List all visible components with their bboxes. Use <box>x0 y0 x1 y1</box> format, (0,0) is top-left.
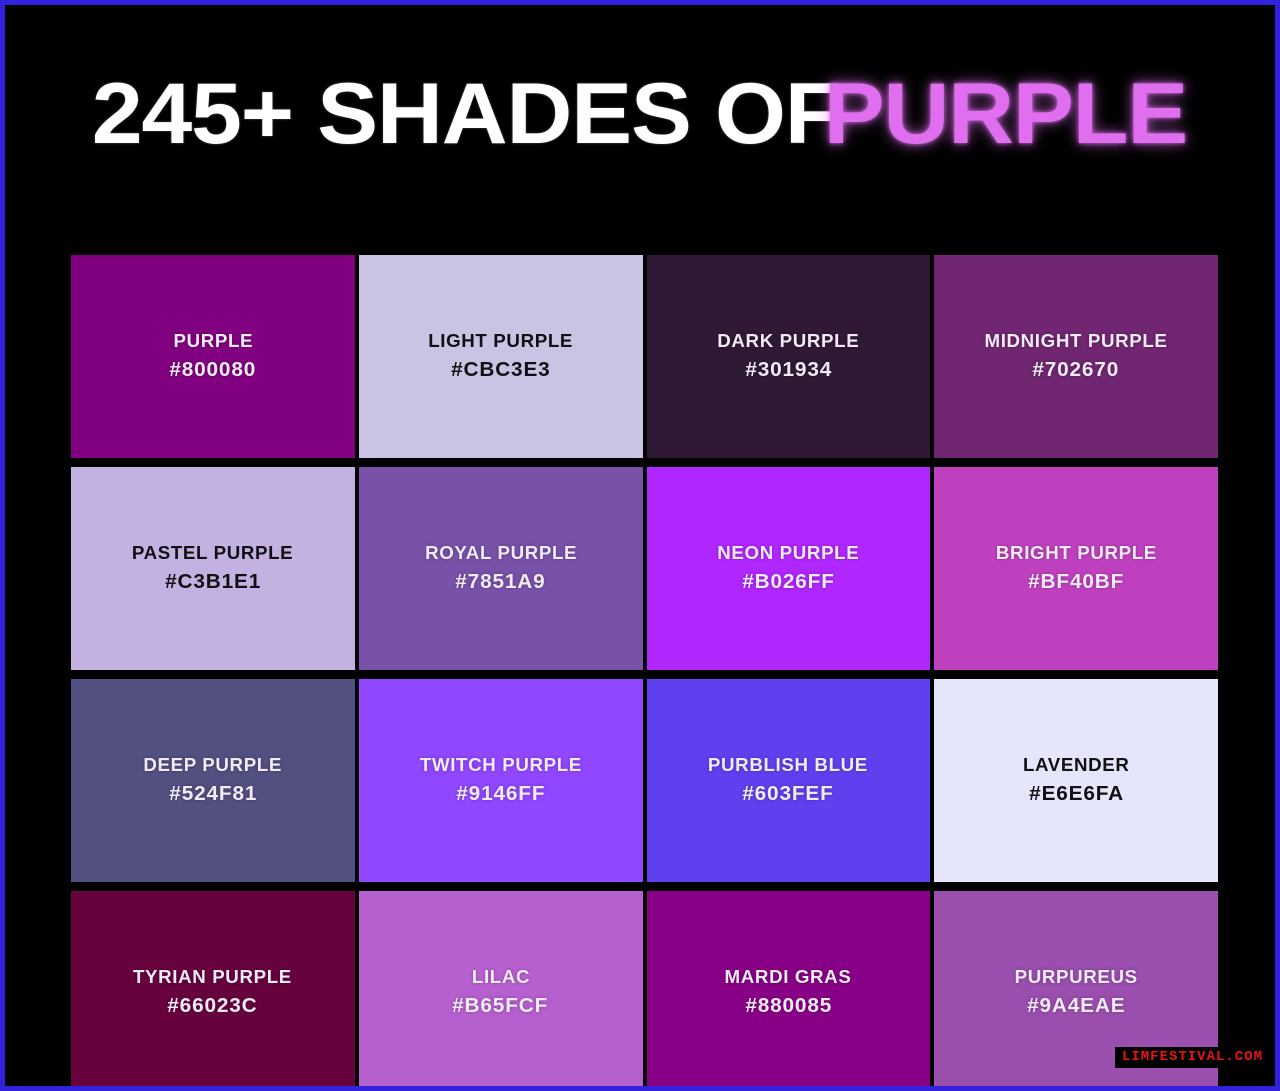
swatch-hex-code: #702670 <box>1033 359 1120 382</box>
swatch-hex-code: #B65FCF <box>453 995 549 1018</box>
watermark-badge: LIMFESTIVAL.COM <box>1115 1047 1270 1068</box>
poster-root: 245+ SHADES OFPURPLE PURPLE#800080LIGHT … <box>0 0 1280 1091</box>
swatch-name: PASTEL PURPLE <box>132 543 293 564</box>
swatch-name: BRIGHT PURPLE <box>996 543 1157 564</box>
swatch-name: ROYAL PURPLE <box>425 543 577 564</box>
swatch-name: DARK PURPLE <box>717 331 859 352</box>
swatch-name: PURPUREUS <box>1015 967 1138 988</box>
color-swatch[interactable]: PURBLISH BLUE#603FEF <box>647 679 931 882</box>
watermark-label: LIMFESTIVAL.COM <box>1122 1049 1263 1065</box>
color-swatch[interactable]: LIGHT PURPLE#CBC3E3 <box>359 255 643 458</box>
swatch-name: PURBLISH BLUE <box>708 755 868 776</box>
swatch-hex-code: #E6E6FA <box>1029 783 1124 806</box>
swatch-name: TYRIAN PURPLE <box>133 967 292 988</box>
color-swatch[interactable]: BRIGHT PURPLE#BF40BF <box>934 467 1218 670</box>
color-swatch-grid: PURPLE#800080LIGHT PURPLE#CBC3E3DARK PUR… <box>71 255 1218 1091</box>
color-swatch[interactable]: ROYAL PURPLE#7851A9 <box>359 467 643 670</box>
swatch-name: NEON PURPLE <box>717 543 859 564</box>
swatch-hex-code: #301934 <box>745 359 832 382</box>
swatch-name: DEEP PURPLE <box>144 755 283 776</box>
swatch-name: LAVENDER <box>1023 755 1130 776</box>
color-swatch[interactable]: PURPLE#800080 <box>71 255 355 458</box>
swatch-hex-code: #9A4EAE <box>1027 995 1125 1018</box>
swatch-hex-code: #603FEF <box>743 783 834 806</box>
page-title: 245+ SHADES OFPURPLE <box>5 71 1280 157</box>
swatch-hex-code: #C3B1E1 <box>165 571 261 594</box>
swatch-name: PURPLE <box>173 331 253 352</box>
swatch-hex-code: #800080 <box>169 359 256 382</box>
color-swatch[interactable]: LILAC#B65FCF <box>359 891 643 1091</box>
swatch-hex-code: #CBC3E3 <box>451 359 550 382</box>
swatch-name: LIGHT PURPLE <box>428 331 573 352</box>
swatch-hex-code: #66023C <box>168 995 258 1018</box>
swatch-hex-code: #7851A9 <box>455 571 545 594</box>
swatch-hex-code: #880085 <box>745 995 832 1018</box>
swatch-hex-code: #BF40BF <box>1028 571 1124 594</box>
color-swatch[interactable]: LAVENDER#E6E6FA <box>934 679 1218 882</box>
swatch-hex-code: #B026FF <box>742 571 835 594</box>
title-main-text: 245+ SHADES OF <box>92 71 840 157</box>
swatch-name: MIDNIGHT PURPLE <box>985 331 1168 352</box>
color-swatch[interactable]: TYRIAN PURPLE#66023C <box>71 891 355 1091</box>
color-swatch[interactable]: TWITCH PURPLE#9146FF <box>359 679 643 882</box>
color-swatch[interactable]: MIDNIGHT PURPLE#702670 <box>934 255 1218 458</box>
color-swatch[interactable]: PASTEL PURPLE#C3B1E1 <box>71 467 355 670</box>
color-swatch[interactable]: NEON PURPLE#B026FF <box>647 467 931 670</box>
color-swatch[interactable]: DEEP PURPLE#524F81 <box>71 679 355 882</box>
swatch-hex-code: #9146FF <box>456 783 545 806</box>
swatch-hex-code: #524F81 <box>169 783 257 806</box>
swatch-name: MARDI GRAS <box>725 967 852 988</box>
title-accent-text: PURPLE <box>824 71 1187 157</box>
swatch-name: TWITCH PURPLE <box>420 755 582 776</box>
color-swatch[interactable]: DARK PURPLE#301934 <box>647 255 931 458</box>
color-swatch[interactable]: MARDI GRAS#880085 <box>647 891 931 1091</box>
swatch-name: LILAC <box>472 967 530 988</box>
